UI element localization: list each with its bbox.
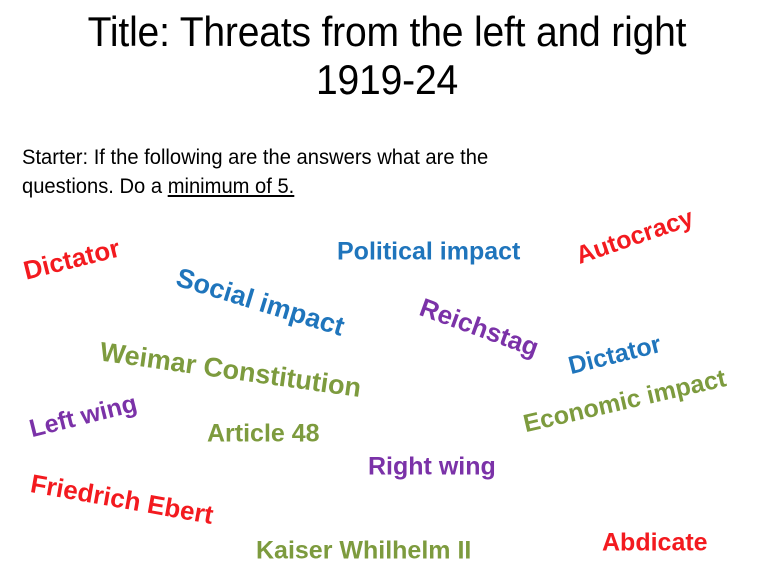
answer-word: Article 48 [207, 422, 320, 447]
answer-word: Reichstag [417, 294, 543, 361]
starter-line-1: Starter: If the following are the answer… [22, 144, 694, 173]
answer-word: Kaiser Whilhelm II [256, 539, 471, 564]
answer-word: Autocracy [573, 205, 697, 268]
answer-word: Friedrich Ebert [29, 470, 216, 528]
answer-word: Political impact [337, 240, 520, 265]
answer-word: Weimar Constitution [98, 339, 363, 402]
answer-word: Economic impact [521, 366, 728, 437]
page-title: Title: Threats from the left and right 1… [27, 8, 747, 105]
title-line-1: Title: Threats from the left and right [27, 8, 747, 56]
answer-word: Abdicate [602, 531, 708, 556]
title-line-2: 1919-24 [27, 56, 747, 104]
slide-canvas: Title: Threats from the left and right 1… [0, 0, 774, 580]
answer-word: Left wing [27, 391, 140, 442]
starter-instructions: Starter: If the following are the answer… [22, 144, 694, 202]
starter-line-2: questions. Do a minimum of 5. [22, 173, 694, 202]
answer-word: Dictator [21, 235, 123, 284]
starter-line-2-prefix: questions. Do a [22, 175, 168, 198]
answer-word: Social impact [173, 264, 347, 341]
starter-minimum-emphasis: minimum of 5. [168, 175, 295, 198]
answer-word: Right wing [368, 455, 496, 480]
answer-word: Dictator [566, 332, 664, 379]
